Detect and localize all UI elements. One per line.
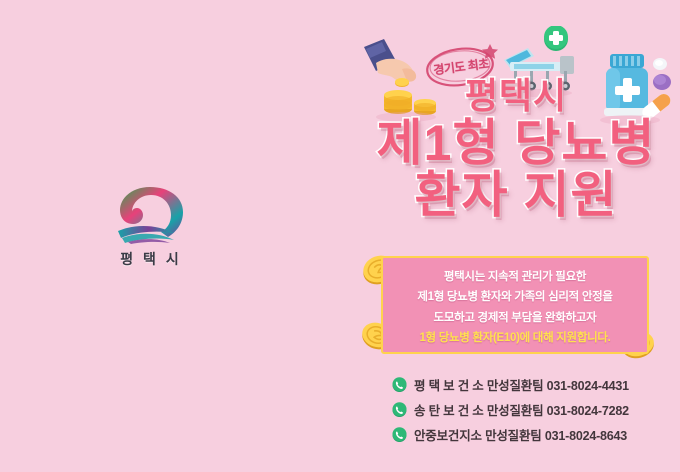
contact-text: 송 탄 보 건 소 만성질환팀 031-8024-7282 xyxy=(414,400,629,419)
contact-text: 안중보건지소 만성질환팀 031-8024-8643 xyxy=(414,425,627,444)
headline-line-3: 환자 지원 xyxy=(366,170,666,220)
info-line-accent: 1형 당뇨병 환자(E10)에 대해 지원합니다. xyxy=(391,328,639,348)
headline-line-2: 제1형 당뇨병 xyxy=(366,118,666,168)
headline-line-1: 평택시 xyxy=(366,78,666,114)
contact-row[interactable]: 평 택 보 건 소 만성질환팀 031-8024-4431 xyxy=(392,372,662,397)
headline: 평택시 제1형 당뇨병 환자 지원 xyxy=(366,78,666,220)
info-line: 도모하고 경제적 부담을 완화하고자 xyxy=(391,308,639,328)
contact-row[interactable]: 안중보건지소 만성질환팀 031-8024-8643 xyxy=(392,422,662,447)
info-line: 평택시는 지속적 관리가 필요한 xyxy=(391,267,639,287)
info-box: 평택시는 지속적 관리가 필요한 제1형 당뇨병 환자와 가족의 심리적 안정을… xyxy=(381,256,649,354)
poster-canvas: 평 택 시 xyxy=(0,0,680,472)
pyeongtaek-city-emblem-icon xyxy=(112,183,190,245)
city-logo-caption: 평 택 시 xyxy=(96,249,206,269)
info-line: 제1형 당뇨병 환자와 가족의 심리적 안정을 xyxy=(391,287,639,307)
city-logo: 평 택 시 xyxy=(96,183,206,269)
contact-list: 평 택 보 건 소 만성질환팀 031-8024-4431 송 탄 보 건 소 … xyxy=(392,372,662,447)
green-phone-icon xyxy=(392,402,407,417)
contact-text: 평 택 보 건 소 만성질환팀 031-8024-4431 xyxy=(414,375,629,394)
green-phone-icon xyxy=(392,377,407,392)
contact-row[interactable]: 송 탄 보 건 소 만성질환팀 031-8024-7282 xyxy=(392,397,662,422)
green-phone-icon xyxy=(392,427,407,442)
